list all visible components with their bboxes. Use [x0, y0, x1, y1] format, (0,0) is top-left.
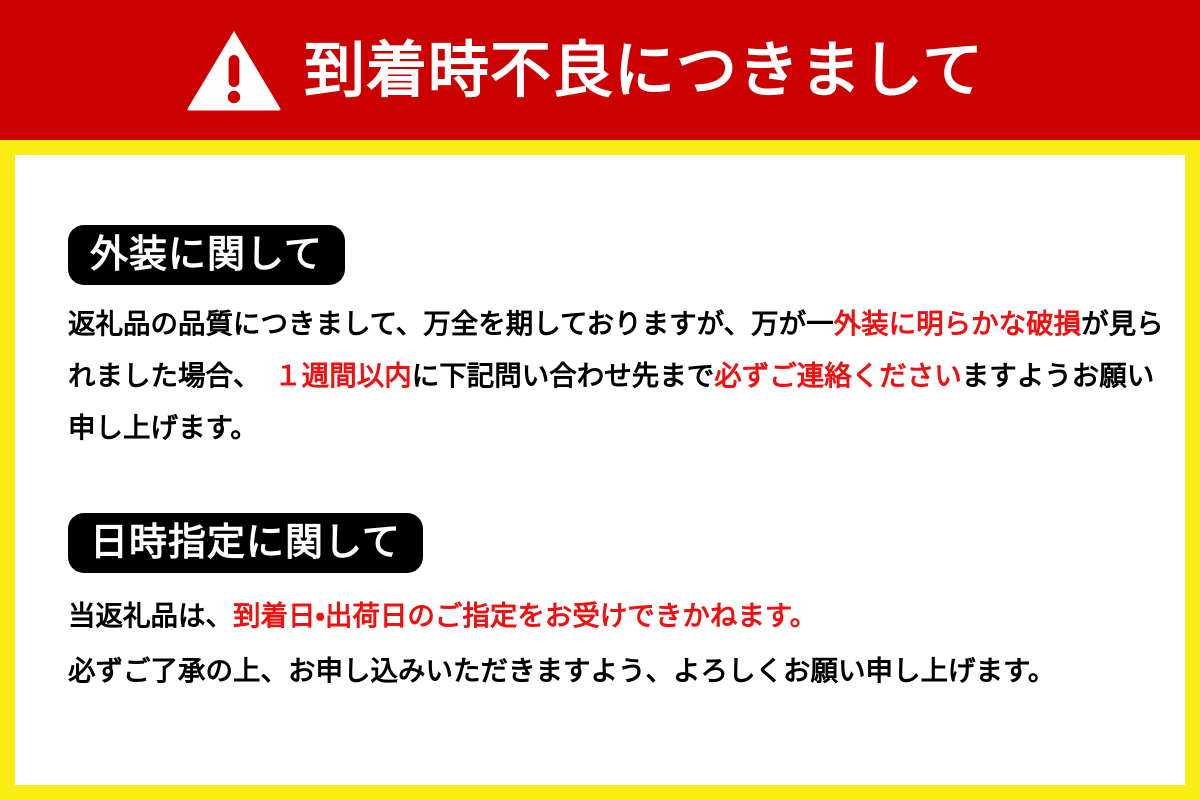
text-run: 当返礼品は、	[68, 600, 233, 632]
header-band: 到着時不良につきまして	[0, 0, 1200, 140]
paragraph: 必ずご了承の上、お申し込みいただきますよう、よろしくお願い申し上げます。	[68, 644, 1165, 699]
section-heading-exterior: 外装に関して	[68, 225, 345, 285]
section-heading-date-designation: 日時指定に関して	[68, 513, 423, 573]
section-body-date-designation: 当返礼品は、到着日・出荷日のご指定をお受けできかねます。 必ずご了承の上、お申し…	[68, 589, 1165, 699]
text-run: に下記問い合わせ先まで	[412, 360, 715, 392]
header-title: 到着時不良につきまして	[304, 40, 984, 101]
text-run-highlight: 外装に明らかな破損	[834, 308, 1082, 340]
content-panel: 外装に関して 返礼品の品質につきまして、万全を期しておりますが、万が一外装に明ら…	[15, 155, 1185, 785]
yellow-frame: 外装に関して 返礼品の品質につきまして、万全を期しておりますが、万が一外装に明ら…	[0, 140, 1200, 800]
section-body-exterior: 返礼品の品質につきまして、万全を期しておりますが、万が一外装に明らかな破損が見ら…	[68, 299, 1165, 454]
text-run-highlight: 必ずご連絡ください	[714, 360, 962, 392]
text-run-highlight: １週間以内	[274, 360, 412, 392]
text-run: 返礼品の品質につきまして、万全を期しておりますが、万が一	[68, 308, 834, 340]
section-exterior: 外装に関して 返礼品の品質につきまして、万全を期しておりますが、万が一外装に明ら…	[68, 225, 1165, 454]
section-date-designation: 日時指定に関して 当返礼品は、到着日・出荷日のご指定をお受けできかねます。 必ず…	[68, 513, 1165, 699]
text-run: 必ずご了承の上、お申し込みいただきますよう、よろしくお願い申し上げます。	[68, 655, 1055, 687]
notice-banner: 到着時不良につきまして 外装に関して 返礼品の品質につきまして、万全を期しており…	[0, 0, 1200, 800]
paragraph: 当返礼品は、到着日・出荷日のご指定をお受けできかねます。	[68, 589, 1165, 644]
warning-triangle-icon	[186, 29, 282, 111]
text-run-highlight: 到着日・出荷日のご指定をお受けできかねます。	[233, 600, 817, 632]
paragraph: 返礼品の品質につきまして、万全を期しておりますが、万が一外装に明らかな破損が見ら…	[68, 299, 1165, 454]
